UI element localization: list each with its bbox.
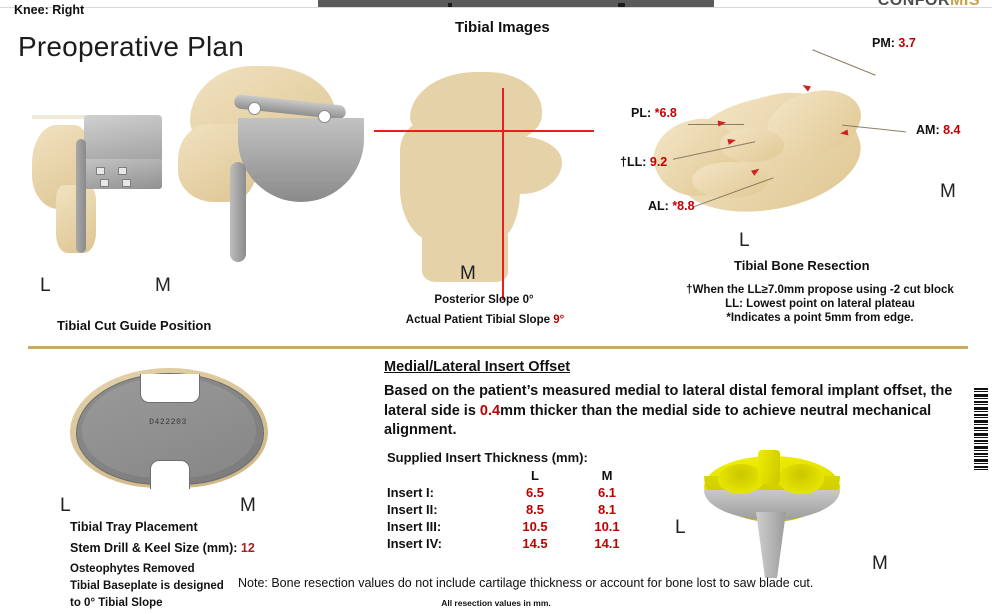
measurement-al: AL: *8.8	[648, 199, 695, 213]
table-row: Insert II: 8.5 8.1	[387, 501, 643, 518]
measurement-pm-label: PM:	[872, 36, 895, 50]
insert-offset-paragraph: Based on the patient’s measured medial t…	[384, 382, 974, 441]
arrow-pl	[718, 119, 727, 126]
insert-row-medial: 14.1	[571, 535, 643, 552]
tibial-images-title: Tibial Images	[455, 19, 550, 36]
insert-offset-value: 0.4	[480, 403, 500, 419]
cut-guide-caption: Tibial Cut Guide Position	[57, 318, 211, 333]
footer-subnote: All resection values in mm.	[0, 598, 992, 608]
arrow-am	[840, 129, 849, 136]
measurement-am-value: 8.4	[943, 123, 960, 137]
measurement-ll-label: †LL:	[620, 155, 646, 169]
tibial-insert-implant-render	[700, 450, 850, 580]
insert-row-label: Insert I:	[387, 484, 499, 501]
insert-row-lateral: 14.5	[499, 535, 571, 552]
measurement-ll-value: 9.2	[650, 155, 667, 169]
crosshair-horizontal	[374, 130, 594, 132]
measurement-pm-value: 3.7	[898, 36, 915, 50]
table-row: Insert I: 6.5 6.1	[387, 484, 643, 501]
measurement-pl-value: *6.8	[655, 106, 677, 120]
tray-medial-label: M	[240, 495, 256, 517]
barcode	[974, 388, 988, 472]
insert-row-label: Insert III:	[387, 518, 499, 535]
insert-row-medial: 8.1	[571, 501, 643, 518]
insert-thickness-title: Supplied Insert Thickness (mm):	[387, 450, 643, 465]
table-row: Insert IV: 14.5 14.1	[387, 535, 643, 552]
column-header-medial: M	[571, 467, 643, 484]
measurement-pl-label: PL:	[631, 106, 651, 120]
tibia-render-with-crosshair	[392, 62, 572, 262]
measurement-am-label: AM:	[916, 123, 940, 137]
measurement-am: AM: 8.4	[916, 123, 960, 137]
cut-guide-lateral-label: L	[40, 275, 51, 297]
cut-guide-medial-label: M	[155, 275, 171, 297]
tray-part-marking: D422203	[136, 418, 200, 428]
footer-note: Note: Bone resection values do not inclu…	[238, 576, 813, 590]
insert-row-medial: 6.1	[571, 484, 643, 501]
stem-drill-keel-size: Stem Drill & Keel Size (mm): 12	[70, 540, 255, 557]
stem-drill-value: 12	[241, 541, 255, 555]
resection-footnote-2: LL: Lowest point on lateral plateau	[655, 297, 985, 311]
section-divider	[28, 346, 968, 349]
insert-row-lateral: 8.5	[499, 501, 571, 518]
crosshair-vertical	[502, 88, 504, 300]
baseplate-note-line1: Tibial Baseplate is designed	[70, 578, 224, 595]
measurement-al-value: *8.8	[672, 199, 694, 213]
tray-placement-caption: Tibial Tray Placement	[70, 519, 198, 536]
table-row: Insert III: 10.5 10.1	[387, 518, 643, 535]
header-divider	[0, 7, 992, 8]
resection-footnote-1: †When the LL≥7.0mm propose using -2 cut …	[655, 283, 985, 297]
knee-side-label: Knee: Right	[14, 3, 84, 17]
insert-thickness-table: Supplied Insert Thickness (mm): L M Inse…	[387, 450, 643, 552]
insert-offset-heading: Medial/Lateral Insert Offset	[384, 359, 570, 375]
posterior-slope-value: Posterior Slope 0°	[384, 293, 584, 307]
logo-text-accent: MIS	[950, 0, 980, 9]
cut-guide-render-superior-view	[172, 66, 372, 276]
implant-lateral-label: L	[675, 517, 686, 539]
page-title: Preoperative Plan	[18, 31, 244, 63]
actual-tibial-slope-label: Actual Patient Tibial Slope	[406, 314, 550, 326]
table-header-row: L M	[387, 467, 643, 484]
measurement-al-label: AL:	[648, 199, 669, 213]
tray-lateral-label: L	[60, 495, 71, 517]
conformis-logo: CONFORMIS	[878, 0, 980, 10]
bone-resection-caption: Tibial Bone Resection	[734, 258, 870, 273]
resection-medial-label: M	[940, 181, 956, 203]
measurement-pl: PL: *6.8	[631, 106, 677, 120]
measurement-pm: PM: 3.7	[872, 36, 916, 50]
insert-row-lateral: 6.5	[499, 484, 571, 501]
insert-row-label: Insert II:	[387, 501, 499, 518]
tibial-images-medial-label: M	[460, 263, 476, 285]
resection-lateral-label: L	[739, 230, 750, 252]
insert-row-medial: 10.1	[571, 518, 643, 535]
resection-footnote-3: *Indicates a point 5mm from edge.	[655, 311, 985, 325]
actual-tibial-slope-value: 9°	[553, 314, 564, 326]
leader-line-pl	[688, 124, 744, 125]
logo-text-primary: CONFOR	[878, 0, 950, 9]
tibial-tray-render: D422203	[64, 364, 276, 494]
measurement-ll: †LL: 9.2	[620, 155, 667, 169]
cut-guide-render-lateral-view	[32, 115, 172, 255]
implant-medial-label: M	[872, 553, 888, 575]
stem-drill-label: Stem Drill & Keel Size (mm):	[70, 541, 237, 555]
osteophytes-removed: Osteophytes Removed	[70, 561, 195, 578]
insert-row-label: Insert IV:	[387, 535, 499, 552]
preoperative-plan-page: CONFORMIS Knee: Right Preoperative Plan …	[0, 0, 992, 614]
actual-tibial-slope: Actual Patient Tibial Slope 9°	[370, 313, 600, 327]
insert-row-lateral: 10.5	[499, 518, 571, 535]
column-header-lateral: L	[499, 467, 571, 484]
